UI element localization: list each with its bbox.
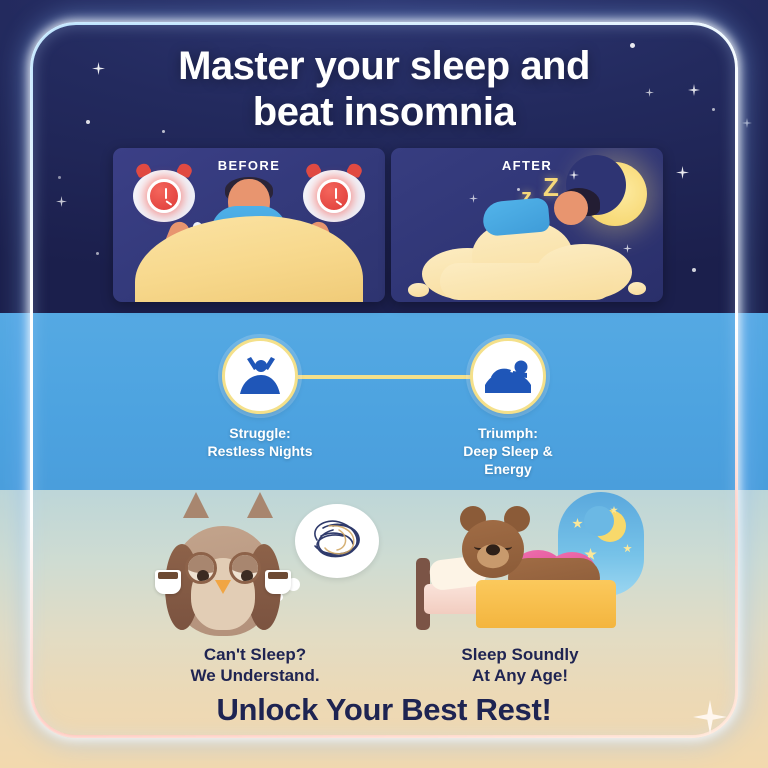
star-dot bbox=[692, 268, 696, 272]
journey-node-struggle[interactable]: Struggle: Restless Nights bbox=[190, 338, 330, 461]
journey-title-triumph: Triumph: bbox=[438, 425, 578, 443]
journey-subtitle-struggle: Restless Nights bbox=[190, 443, 330, 461]
star-dot bbox=[96, 252, 99, 255]
alarm-clock-icon bbox=[147, 179, 181, 213]
coffee-cup-right bbox=[265, 570, 291, 594]
owl-ear-right bbox=[247, 492, 273, 518]
benefit-bear-line-1: Sleep Soundly bbox=[390, 644, 650, 665]
benefit-owl-line-1: Can't Sleep? bbox=[125, 644, 385, 665]
coffee-cup-left bbox=[155, 570, 181, 594]
page-title: Master your sleep and beat insomnia bbox=[0, 44, 768, 135]
sparkle-star bbox=[469, 194, 478, 203]
sleeping-teddy-bear-icon bbox=[390, 500, 650, 638]
resting-person-icon bbox=[470, 338, 546, 414]
star-dot bbox=[58, 176, 61, 179]
bed-quilt bbox=[476, 580, 616, 628]
cloud-puff bbox=[408, 283, 429, 297]
window-star bbox=[572, 518, 583, 529]
before-panel[interactable]: BEFORE bbox=[113, 148, 385, 302]
owl-beak bbox=[215, 580, 231, 594]
benefit-card-owl[interactable]: Can't Sleep? We Understand. bbox=[125, 500, 385, 687]
alarm-clock-icon bbox=[317, 179, 351, 213]
infographic-canvas: Master your sleep and beat insomnia BEFO… bbox=[0, 0, 768, 768]
benefit-owl-line-2: We Understand. bbox=[125, 665, 385, 686]
benefit-bear-line-2: At Any Age! bbox=[390, 665, 650, 686]
owl-pupil bbox=[241, 570, 253, 582]
bear-head bbox=[462, 520, 524, 578]
owl-body bbox=[171, 526, 275, 636]
sleeping-person-body bbox=[482, 197, 551, 237]
benefit-caption-owl: Can't Sleep? We Understand. bbox=[125, 644, 385, 687]
clock-hand-hour bbox=[165, 200, 172, 206]
journey-caption-triumph: Triumph: Deep Sleep & Energy bbox=[438, 425, 578, 479]
page-title-line-2: beat insomnia bbox=[0, 90, 768, 136]
owl-eye-left bbox=[185, 552, 217, 584]
clock-hand-minute bbox=[335, 188, 337, 199]
journey-subtitle-triumph: Deep Sleep & Energy bbox=[438, 443, 578, 479]
clock-hand-minute bbox=[165, 188, 167, 199]
window-crescent-moon-icon bbox=[594, 510, 626, 542]
thought-bubble-left bbox=[133, 170, 195, 222]
thought-bubble-right bbox=[303, 170, 365, 222]
journey-node-triumph[interactable]: Triumph: Deep Sleep & Energy bbox=[438, 338, 578, 479]
after-label: AFTER bbox=[391, 158, 663, 173]
bear-nose bbox=[486, 544, 500, 555]
sleeping-person-head bbox=[554, 191, 588, 225]
clock-hand-hour bbox=[335, 200, 342, 206]
sparkle-star bbox=[56, 196, 67, 207]
journey-section bbox=[0, 313, 768, 490]
journey-title-struggle: Struggle: bbox=[190, 425, 330, 443]
page-title-line-1: Master your sleep and bbox=[0, 44, 768, 90]
benefit-caption-bear: Sleep Soundly At Any Age! bbox=[390, 644, 650, 687]
owl-eye-right bbox=[229, 552, 261, 584]
cloud-base bbox=[440, 263, 614, 300]
sparkle-star bbox=[676, 166, 689, 179]
cloud-puff bbox=[628, 282, 646, 295]
before-label: BEFORE bbox=[113, 158, 385, 173]
tangled-thoughts-bubble bbox=[295, 504, 379, 578]
footer-cta: Unlock Your Best Rest! bbox=[0, 692, 768, 728]
owl-pupil bbox=[197, 570, 209, 582]
tired-owl-with-coffee-icon bbox=[125, 500, 385, 638]
restless-person-icon bbox=[222, 338, 298, 414]
window-star bbox=[623, 544, 632, 553]
journey-caption-struggle: Struggle: Restless Nights bbox=[190, 425, 330, 461]
after-panel[interactable]: AFTER z Z bbox=[391, 148, 663, 302]
owl-ear-left bbox=[183, 492, 209, 518]
benefit-card-bear[interactable]: Sleep Soundly At Any Age! bbox=[390, 500, 650, 687]
star-dot bbox=[517, 188, 520, 191]
